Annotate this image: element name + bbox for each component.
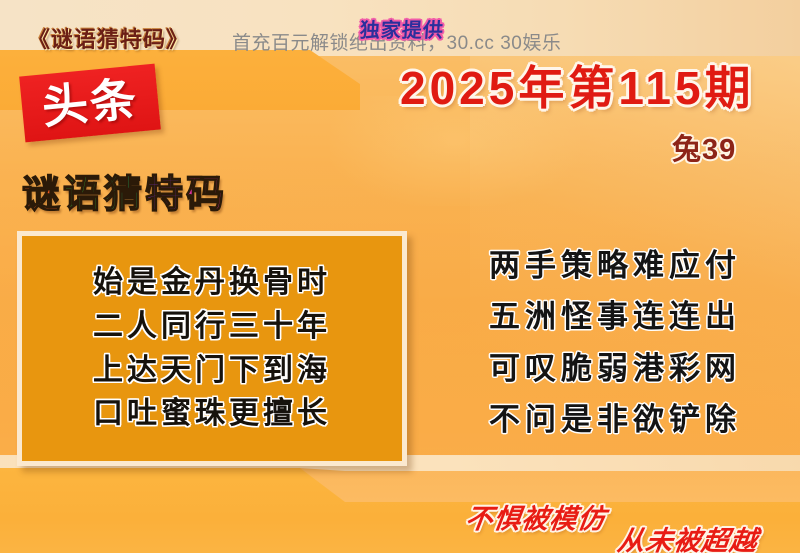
rainbow-title-char-3: 特 — [145, 176, 186, 214]
riddle-line: 二人同行三十年 — [22, 305, 402, 349]
headline-badge: 头条 — [19, 64, 161, 143]
rainbow-title-char-1: 语 — [63, 176, 104, 214]
riddle-line: 始是金丹换骨时 — [22, 261, 402, 305]
poem-line: 可叹脆弱港彩网 — [440, 343, 790, 394]
lottery-poster: 《谜语猜特码》 首充百元解锁绝出资料，30.cc 30娱乐 独家提供 2025年… — [0, 0, 800, 553]
slogan-right: 从未被超越 — [615, 519, 760, 553]
poem-line: 两手策略难应付 — [440, 240, 790, 291]
riddle-line: 口吐蜜珠更擅长 — [22, 392, 402, 436]
poem-block: 两手策略难应付 五洲怪事连连出 可叹脆弱港彩网 不问是非欲铲除 — [440, 240, 790, 446]
zodiac-number: 兔39 — [672, 126, 736, 168]
riddle-line: 上达天门下到海 — [22, 349, 402, 393]
issue-title: 2025年第115期 — [400, 52, 755, 118]
rainbow-title-char-2: 猜 — [104, 176, 145, 214]
exclusive-stamp: 独家提供 — [359, 14, 445, 43]
rainbow-title-char-0: 谜 — [22, 176, 63, 214]
slogan-left: 不惧被模仿 — [463, 497, 608, 536]
site-name: 《谜语猜特码》 — [28, 22, 189, 54]
rainbow-title: 谜语猜特码 — [22, 176, 227, 214]
headline-badge-label: 头条 — [40, 76, 140, 131]
riddle-box: 始是金丹换骨时 二人同行三十年 上达天门下到海 口吐蜜珠更擅长 — [17, 231, 407, 466]
poem-line: 五洲怪事连连出 — [440, 291, 790, 342]
poem-line: 不问是非欲铲除 — [440, 394, 790, 445]
rainbow-title-char-4: 码 — [186, 176, 227, 214]
